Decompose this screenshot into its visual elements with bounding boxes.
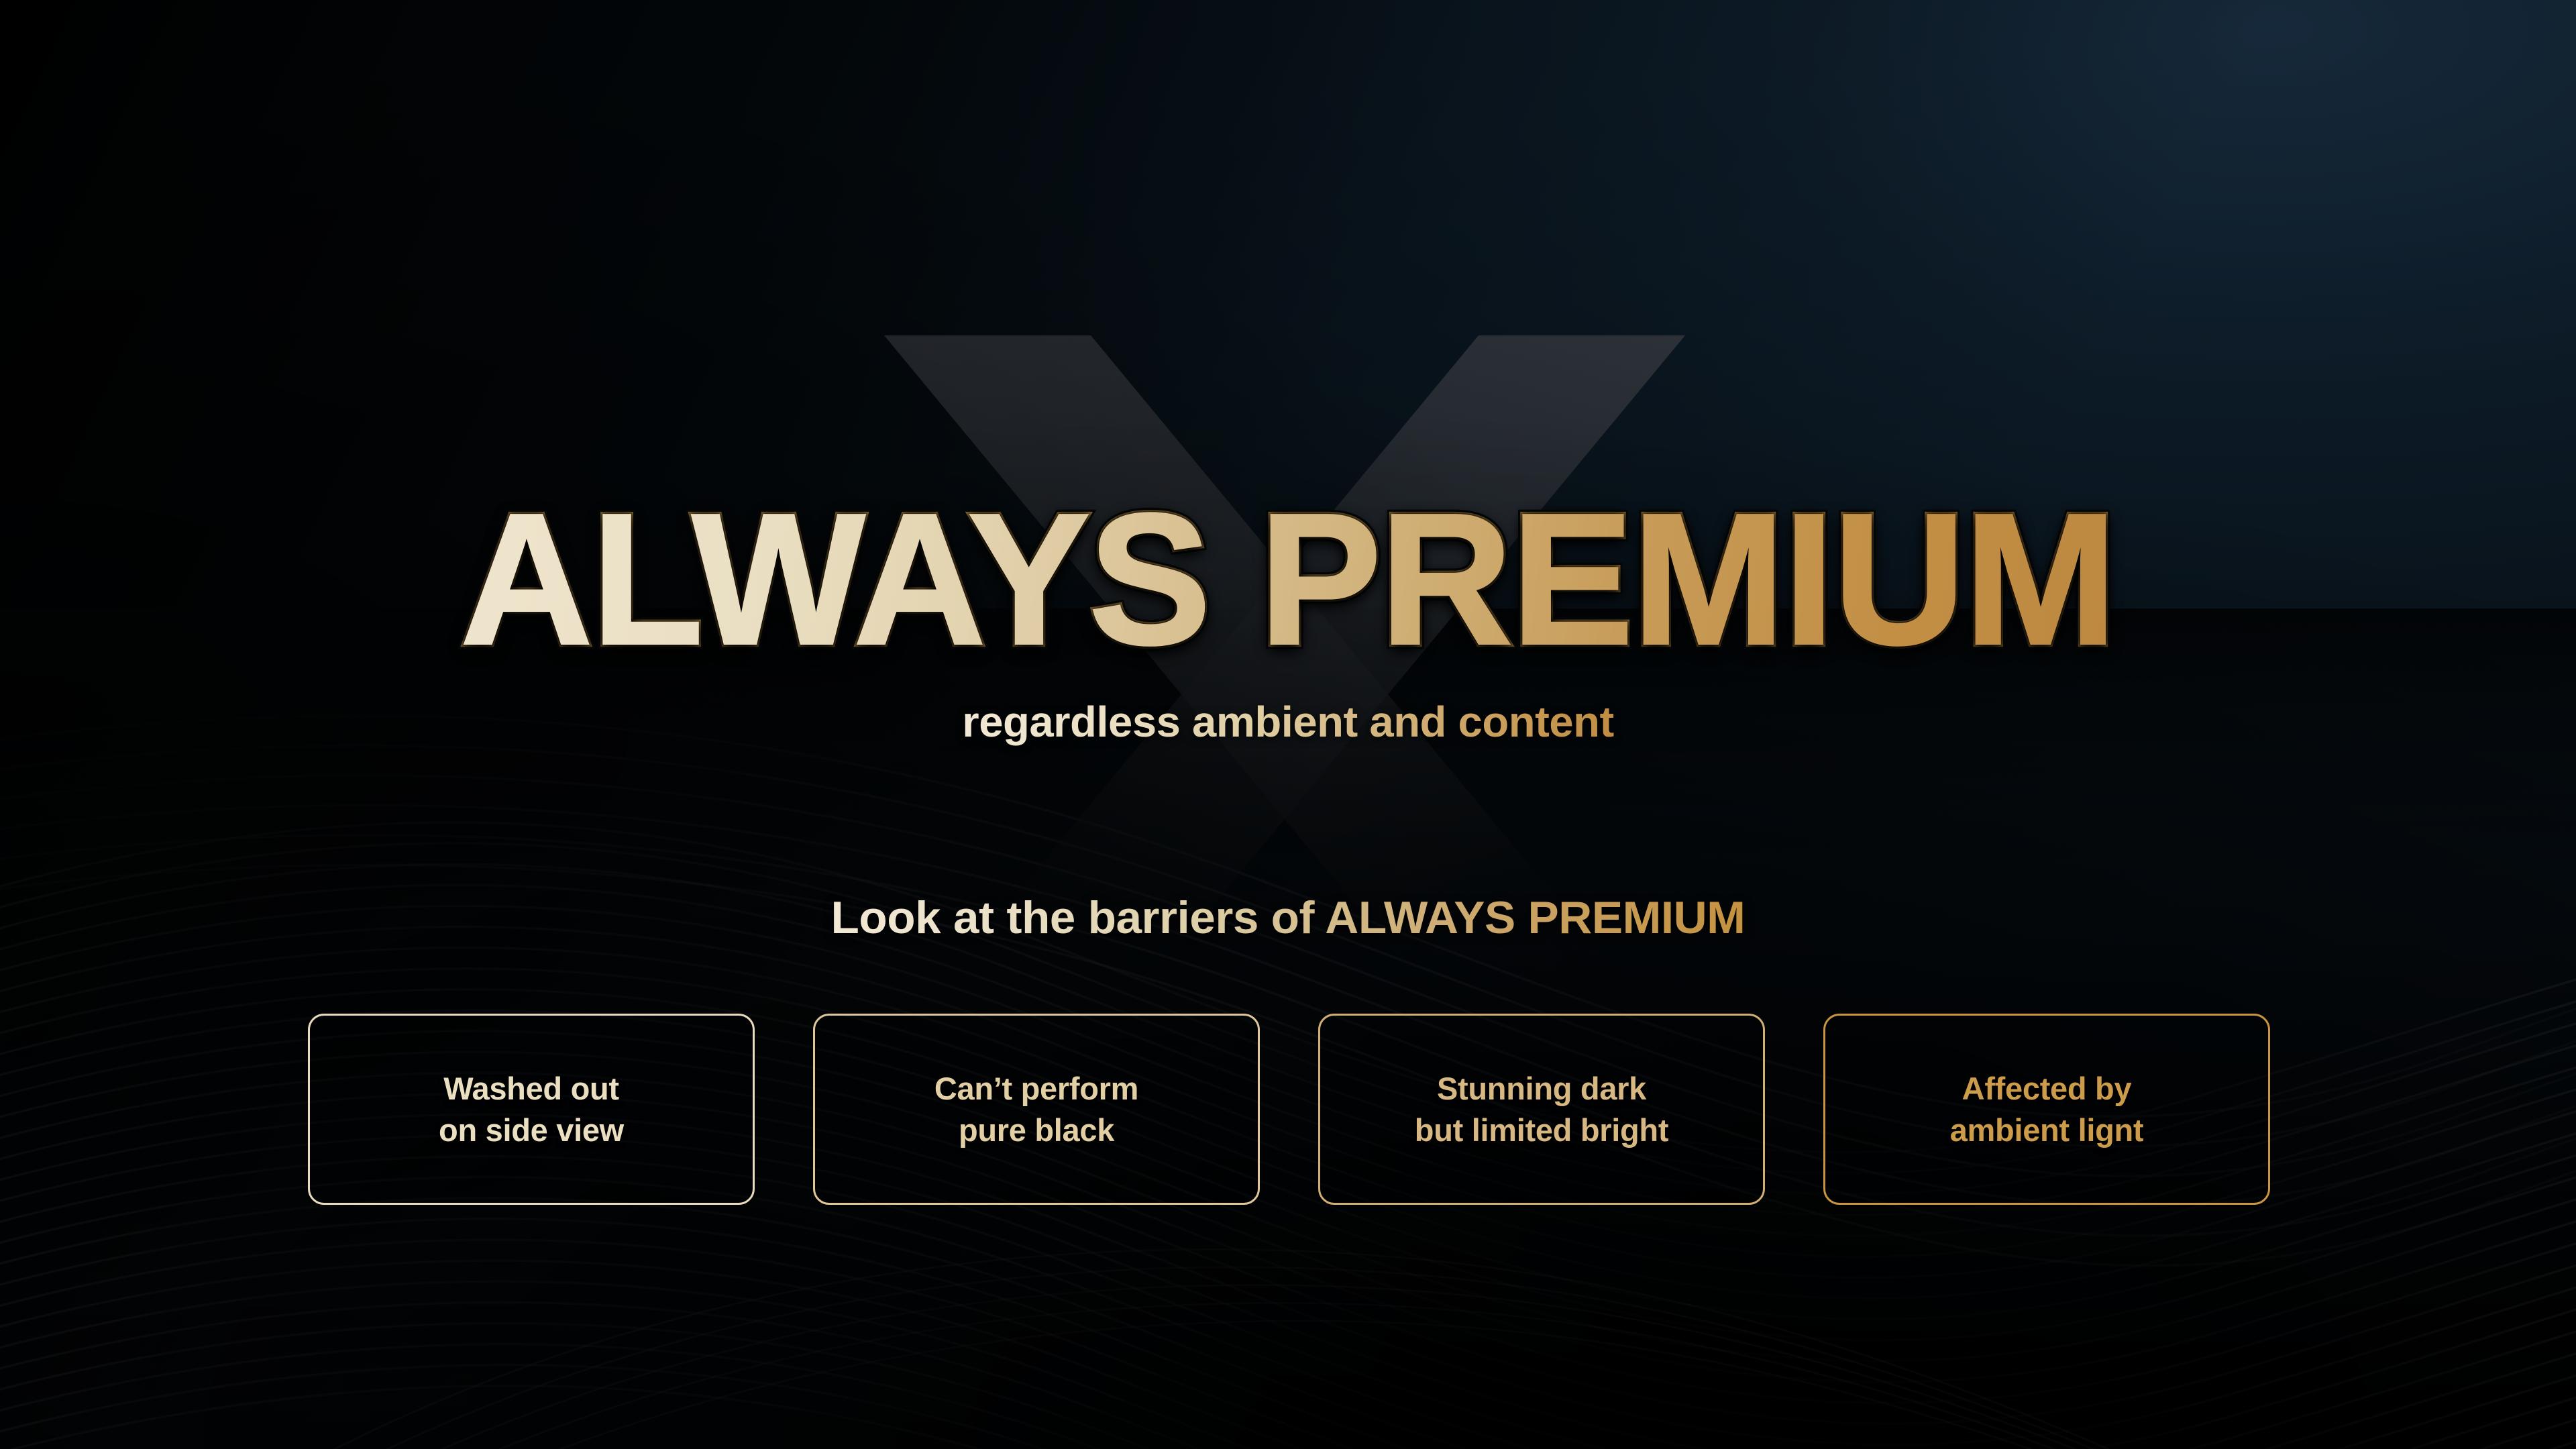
barrier-card-washed-out[interactable]: Washed out on side view — [308, 1014, 755, 1205]
barrier-card-label: Affected by ambient lignt — [1950, 1068, 2144, 1150]
barrier-card-pure-black[interactable]: Can’t perform pure black — [813, 1014, 1260, 1205]
barriers-heading: Look at the barriers of ALWAYS PREMIUM — [0, 892, 2576, 943]
barriers-card-list: Washed out on side view Can’t perform pu… — [308, 1014, 2270, 1205]
headline-fill-layer: ALWAYS PREMIUM — [460, 474, 2115, 684]
slide-content: ALWAYS PREMIUM ALWAYS PREMIUM ALWAYS PRE… — [0, 0, 2576, 1449]
barrier-card-label: Stunning dark but limited bright — [1415, 1068, 1668, 1150]
hero-headline-wrap: ALWAYS PREMIUM ALWAYS PREMIUM ALWAYS PRE… — [0, 486, 2576, 659]
page-title: ALWAYS PREMIUM ALWAYS PREMIUM ALWAYS PRE… — [460, 486, 2115, 673]
barrier-card-ambient-light[interactable]: Affected by ambient lignt — [1823, 1014, 2270, 1205]
slide-canvas: ALWAYS PREMIUM ALWAYS PREMIUM ALWAYS PRE… — [0, 0, 2576, 1449]
hero-subtitle: regardless ambient and content — [0, 698, 2576, 747]
hero-subtitle-text: regardless ambient and content — [962, 698, 1613, 746]
barriers-heading-text: Look at the barriers of ALWAYS PREMIUM — [831, 892, 1746, 943]
barrier-card-label: Can’t perform pure black — [934, 1068, 1138, 1150]
barrier-card-label: Washed out on side view — [439, 1068, 624, 1150]
barrier-card-limited-bright[interactable]: Stunning dark but limited bright — [1318, 1014, 1765, 1205]
